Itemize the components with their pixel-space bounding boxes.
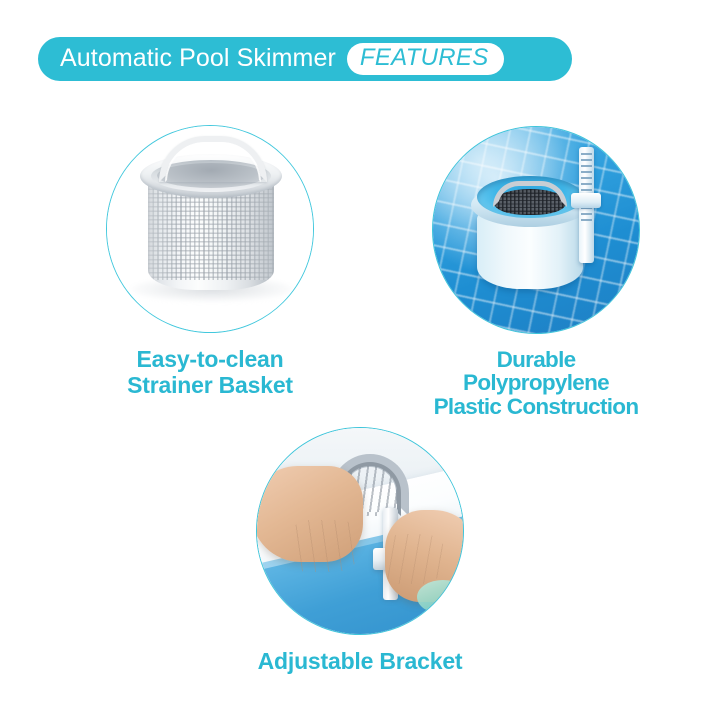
feature-caption-polypropylene-construction: Durable Polypropylene Plastic Constructi… [432,348,640,418]
header-banner: Automatic Pool Skimmer FEATURES [38,37,572,81]
feature-image-adjustable-bracket [256,427,464,635]
feature-image-polypropylene-construction [432,126,640,334]
skimmer-handle-bar [493,181,567,207]
pool-skimmer-photo [433,127,639,333]
feature-caption-adjustable-bracket: Adjustable Bracket [256,649,464,675]
feature-card-strainer-basket: Easy-to-clean Strainer Basket [106,125,314,399]
page-title: Automatic Pool Skimmer [60,46,336,73]
bracket-clamp [571,193,601,208]
feature-image-strainer-basket [106,125,314,333]
bracket-installation-photo [257,428,463,634]
features-badge: FEATURES [347,43,504,75]
bracket-adjustment-teeth [581,153,592,223]
basket-illustration [107,126,313,332]
left-hand-fingers [289,520,363,572]
feature-card-adjustable-bracket: Adjustable Bracket [256,427,464,675]
basket-mesh-perforations [148,184,274,280]
feature-card-polypropylene-construction: Durable Polypropylene Plastic Constructi… [432,126,640,418]
right-hand-fingers [383,534,447,584]
feature-caption-strainer-basket: Easy-to-clean Strainer Basket [106,347,314,399]
pool-accessory [417,580,464,614]
features-badge-label: FEATURES [360,46,489,72]
